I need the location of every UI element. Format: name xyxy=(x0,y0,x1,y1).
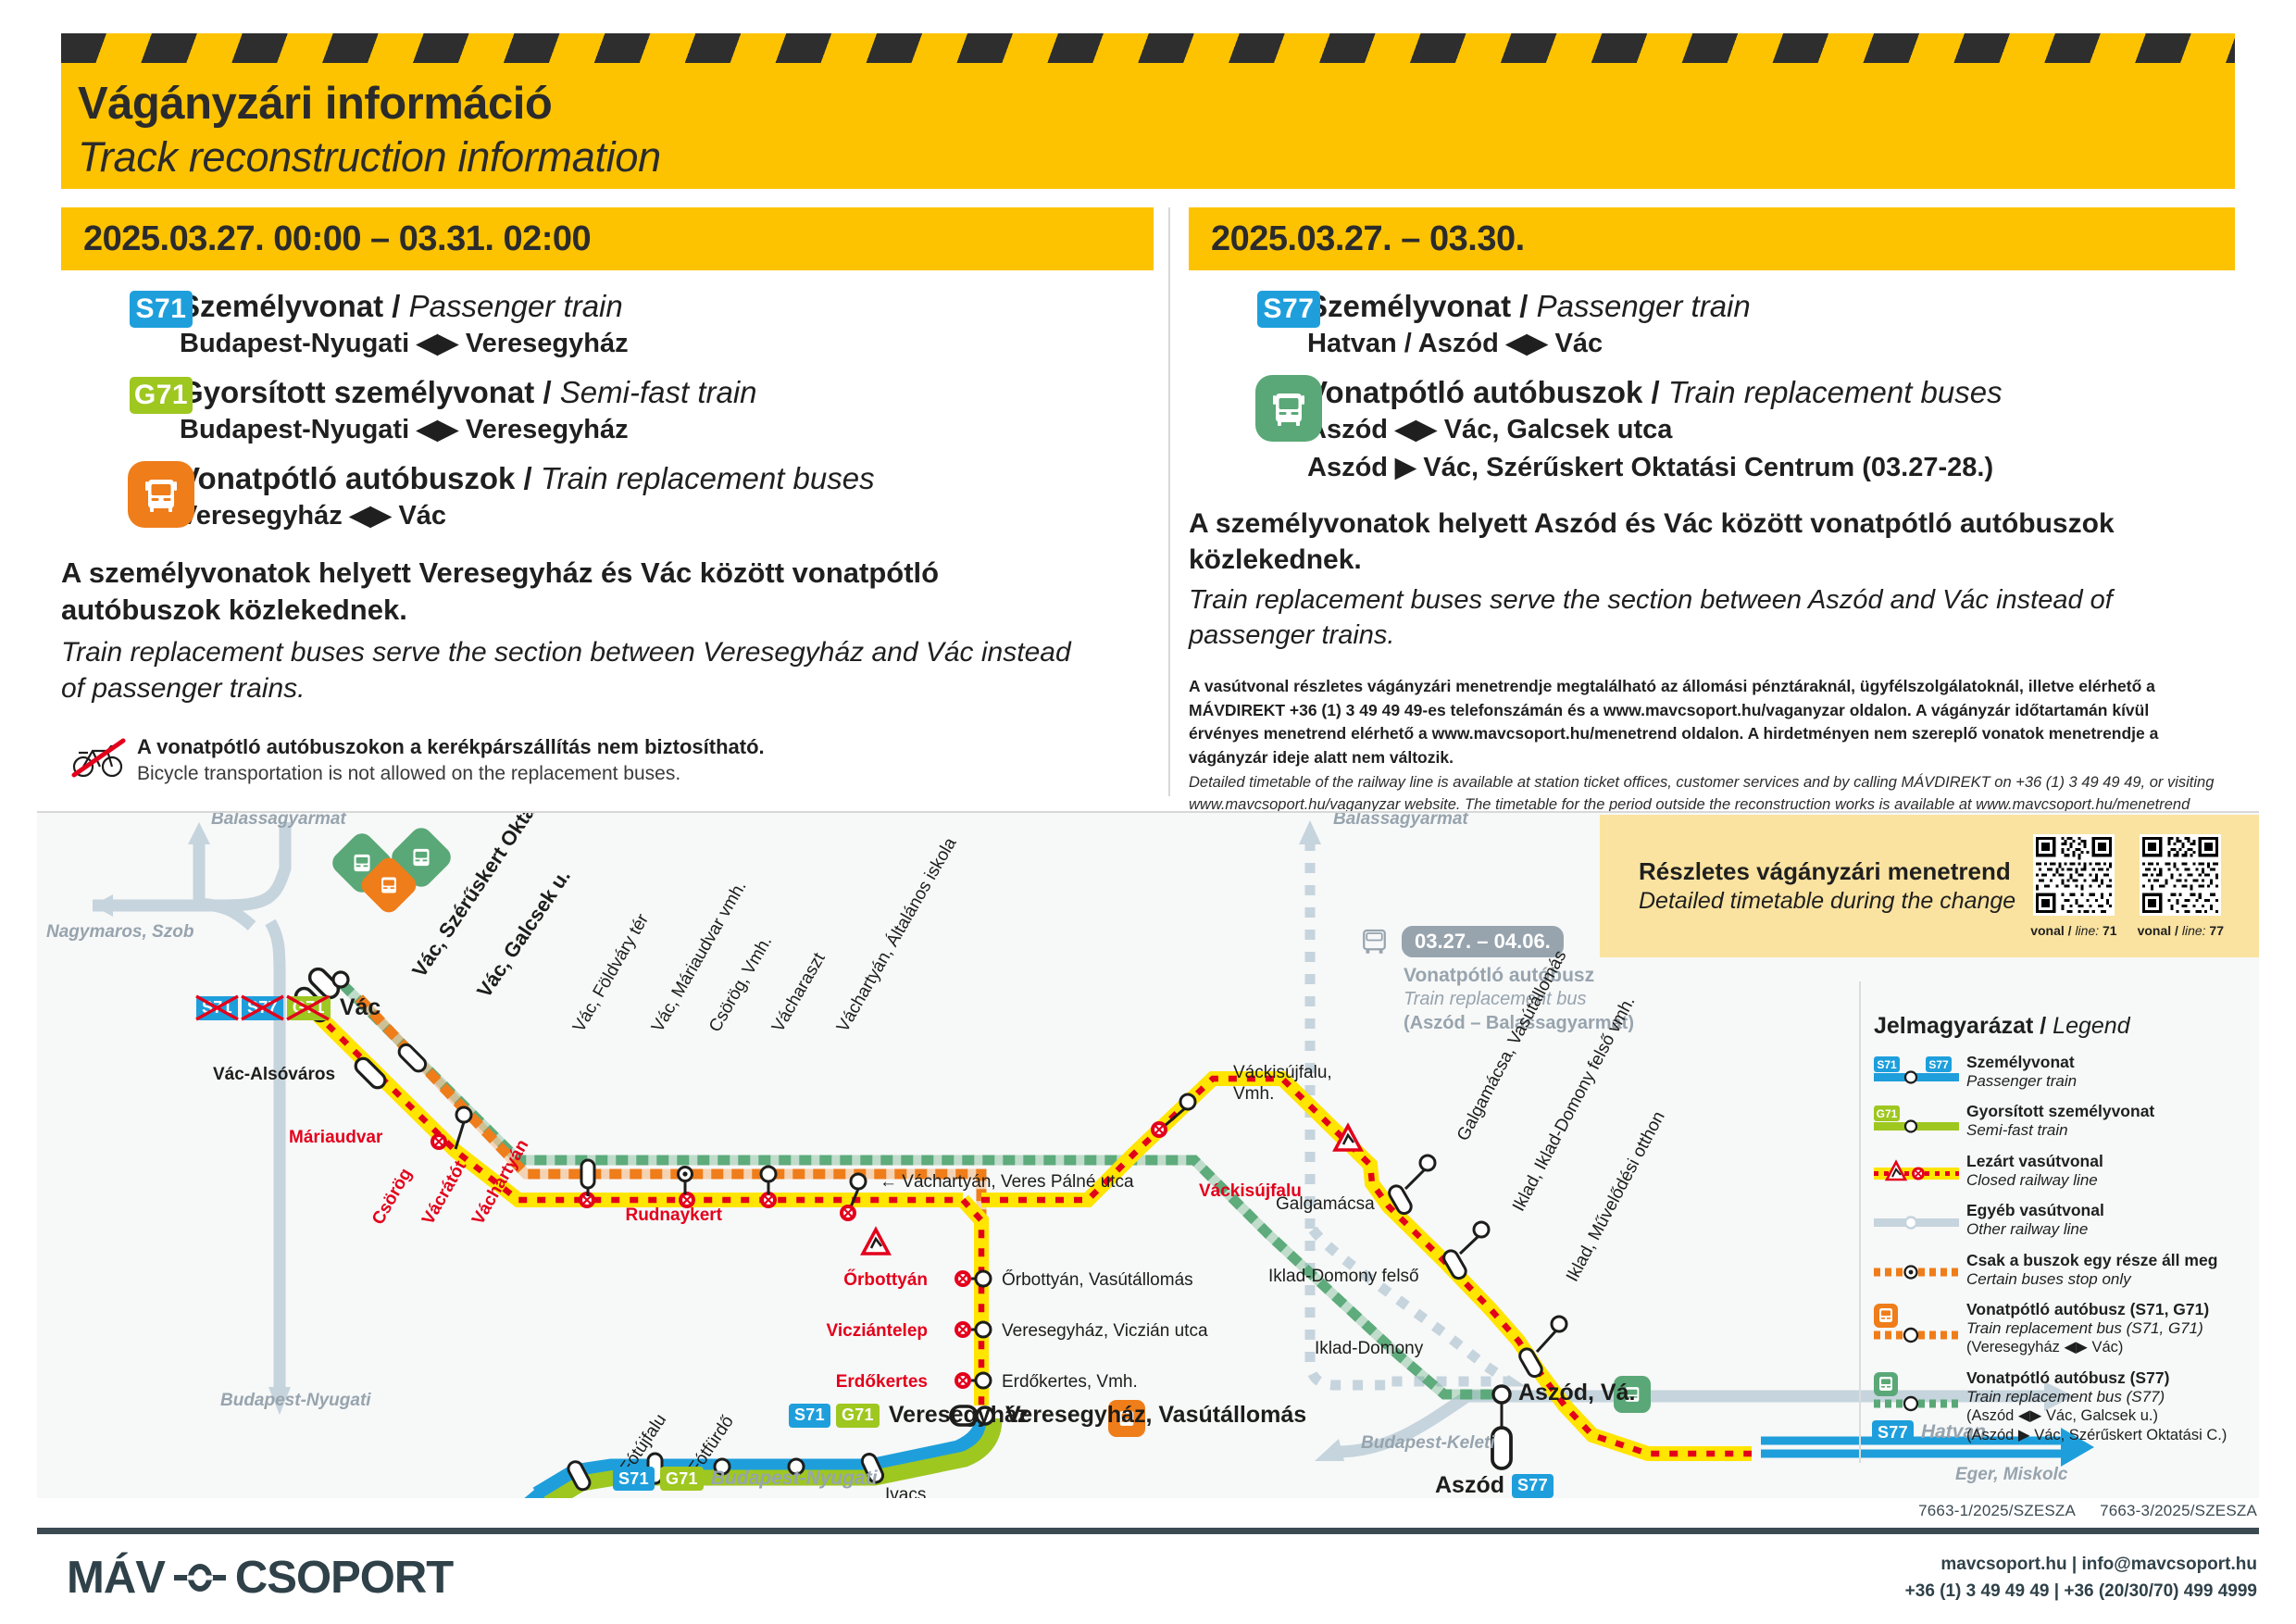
station-label-iklad-domony-felso: Iklad-Domony felső xyxy=(1268,1267,1419,1287)
document-code-2: 7663-3/2025/SZESZA xyxy=(2100,1502,2257,1519)
legend-divider xyxy=(1859,981,1861,1463)
document-code-1: 7663-1/2025/SZESZA xyxy=(1918,1502,2075,1519)
station-label-vac-alsovaros: Vác-Alsóváros xyxy=(213,1065,335,1085)
service-bus-right: Vonatpótló autóbuszok / Train replacemen… xyxy=(1189,375,2237,486)
service-s77: S77 Személyvonat / Passenger train Hatva… xyxy=(1189,289,2237,362)
station-label-erdokertes: Erdőkertes xyxy=(836,1372,928,1393)
note-en-left: Train replacement buses serve the sectio… xyxy=(61,634,1098,706)
station-label-rudnaykert: Rudnaykert xyxy=(625,1206,722,1226)
station-label-mariaudvar: Máriaudvar xyxy=(289,1128,382,1148)
legend-item-semi-fast-train: G71 Gyorsított személyvonat Semi-fast tr… xyxy=(1874,1102,2235,1140)
legend-item-bus-green: Vonatpótló autóbusz (S77) Train replacem… xyxy=(1874,1368,2235,1445)
brand-text-csoport: CSOPORT xyxy=(235,1552,453,1604)
cross-out-icon xyxy=(284,993,332,1023)
direction-label-balassagyarmat-left: Balassagyarmat xyxy=(211,813,346,830)
date-range-right: 2025.03.27. – 03.30. xyxy=(1189,219,1525,259)
map-bus-note-label-hu: Vonatpótló autóbusz xyxy=(1404,965,1594,987)
note-hu-right: A személyvonatok helyett Aszód és Vác kö… xyxy=(1189,506,2226,578)
service-title-en: Passenger train xyxy=(1537,289,1751,323)
brand-text-mav: MÁV xyxy=(67,1552,165,1604)
qr-title-hu: Részletes vágányzári menetrend xyxy=(1639,857,2030,886)
bus-icon-orange xyxy=(128,461,194,528)
poster-page: Vágányzári információ Track reconstructi… xyxy=(0,0,2296,1624)
cross-out-icon xyxy=(239,993,287,1023)
legend-item-other-line: Egyéb vasútvonal Other railway line xyxy=(1874,1201,2235,1239)
note-hu-left: A személyvonatok helyett Veresegyház és … xyxy=(61,555,1098,628)
vac-badge-s71-crossed: S71 xyxy=(196,996,238,1020)
station-label-aszod: Aszód xyxy=(1435,1472,1504,1498)
footer-contact: mavcsoport.hu | info@mavcsoport.hu +36 (… xyxy=(1905,1552,2257,1605)
qr-timetable-box: Részletes vágányzári menetrend Detailed … xyxy=(1600,815,2259,957)
svg-text:G71: G71 xyxy=(1877,1107,1898,1120)
bike-notice: A vonatpótló autóbuszokon a kerékpárszál… xyxy=(61,734,1163,787)
busstop-label-vackisujfalu-vmh: Váckisújfalu,Vmh. xyxy=(1233,1063,1332,1106)
date-band-left: 2025.03.27. 00:00 – 03.31. 02:00 xyxy=(61,207,1154,270)
service-title-hu: Vonatpótló autóbuszok xyxy=(180,461,515,495)
service-title-bus-right: Vonatpótló autóbuszok / Train replacemen… xyxy=(1307,375,2237,410)
badge-s71: S71 xyxy=(130,291,193,328)
badge-g71: G71 xyxy=(130,377,193,414)
hazard-stripe xyxy=(61,33,2235,63)
right-column: S77 Személyvonat / Passenger train Hatva… xyxy=(1189,289,2237,839)
busstop-label-aszod-va: Aszód, Vá. xyxy=(1518,1380,1635,1406)
legend-text-partial-bus-stop: Csak a buszok egy része áll meg Certain … xyxy=(1959,1251,2217,1289)
column-divider xyxy=(1168,207,1170,796)
service-route-s77: Hatvan / Aszód ◀▶ Vác xyxy=(1307,326,2237,362)
fine-print-hu: A vasútvonal részletes vágányzári menetr… xyxy=(1189,675,2216,769)
aszod-station-group: Aszód S77 xyxy=(1435,1472,1554,1498)
service-bus-left: Vonatpótló autóbuszok / Train replacemen… xyxy=(61,461,1163,534)
service-title-en: Passenger train xyxy=(409,289,623,323)
station-label-galgamacsa: Galgamácsa xyxy=(1276,1194,1375,1215)
footer-phone: +36 (1) 3 49 49 49 | +36 (20/30/70) 499 … xyxy=(1905,1579,2257,1605)
service-title-hu: Gyorsított személyvonat xyxy=(180,375,534,409)
qr-code-line-77[interactable]: vonal / line: 77 xyxy=(2138,834,2224,938)
note-en-right: Train replacement buses serve the sectio… xyxy=(1189,583,2226,653)
legend-symbol-partial-bus-stop xyxy=(1874,1251,1959,1282)
legend-symbol-semi-fast-train: G71 xyxy=(1874,1102,1959,1133)
service-title-en: Train replacement buses xyxy=(541,461,875,495)
legend-symbol-closed-line xyxy=(1874,1152,1959,1183)
page-title-en: Track reconstruction information xyxy=(78,133,661,181)
footer-rule xyxy=(37,1528,2259,1534)
legend-text-bus-orange: Vonatpótló autóbusz (S71, G71) Train rep… xyxy=(1959,1300,2209,1357)
qr-code-line-71[interactable]: vonal / line: 71 xyxy=(2030,834,2116,938)
left-column: S71 Személyvonat / Passenger train Budap… xyxy=(61,289,1163,786)
legend-item-closed-line: Lezárt vasútvonal Closed railway line xyxy=(1874,1152,2235,1190)
map-bus-note-header: 03.27. – 04.06. xyxy=(1359,926,1564,957)
legend-text-closed-line: Lezárt vasútvonal Closed railway line xyxy=(1959,1152,2103,1190)
qr-code-icon xyxy=(2033,834,2115,916)
direction-label-nagymaros-szob: Nagymaros, Szob xyxy=(46,922,193,943)
service-g71: G71 Gyorsított személyvonat / Semi-fast … xyxy=(61,375,1163,448)
document-codes: 7663-1/2025/SZESZA 7663-3/2025/SZESZA xyxy=(1898,1502,2257,1520)
legend-text-other-line: Egyéb vasútvonal Other railway line xyxy=(1959,1201,2104,1239)
veresegyhaz-badge-s71: S71 xyxy=(789,1404,830,1428)
date-range-left: 2025.03.27. 00:00 – 03.31. 02:00 xyxy=(61,219,591,259)
vac-station-group: S71 S77 G71 Vác xyxy=(196,994,375,1021)
legend-item-bus-orange: Vonatpótló autóbusz (S71, G71) Train rep… xyxy=(1874,1300,2235,1357)
qr-title-en: Detailed timetable during the change xyxy=(1639,888,2030,915)
service-title-hu: Vonatpótló autóbuszok xyxy=(1307,375,1642,409)
no-bicycle-icon xyxy=(70,736,128,781)
map-bus-note-period: 03.27. – 04.06. xyxy=(1402,926,1564,957)
legend-symbol-bus-orange xyxy=(1874,1300,1959,1348)
svg-text:S71: S71 xyxy=(1877,1058,1897,1071)
service-title-g71: Gyorsított személyvonat / Semi-fast trai… xyxy=(180,375,1163,410)
terminus-budapest-nyugati: S71 G71 Budapest-Nyugati xyxy=(613,1467,876,1491)
service-route-bus-right-2: Aszód ▶ Vác, Szérűskert Oktatási Centrum… xyxy=(1307,450,2237,486)
svg-text:S77: S77 xyxy=(1928,1058,1949,1071)
legend-text-passenger-train: Személyvonat Passenger train xyxy=(1959,1053,2077,1091)
bus-icon-green xyxy=(1255,375,1322,442)
busstop-label-orbottyan-vasutallomas: Őrbottyán, Vasútállomás xyxy=(1002,1270,1193,1291)
direction-label-budapest-keleti: Budapest-Keleti xyxy=(1361,1433,1495,1454)
station-label-iklad-domony: Iklad-Domony xyxy=(1315,1339,1423,1359)
legend-text-bus-green: Vonatpótló autóbusz (S77) Train replacem… xyxy=(1959,1368,2227,1445)
legend-symbol-passenger-train: S71 S77 xyxy=(1874,1053,1959,1084)
veresegyhaz-station-group: S71 G71 Veresegyház xyxy=(789,1402,1025,1429)
station-label-vac: Vác xyxy=(340,994,381,1021)
service-s71: S71 Személyvonat / Passenger train Budap… xyxy=(61,289,1163,362)
service-route-bus-right-1: Aszód ◀▶ Vác, Galcsek utca xyxy=(1307,412,2237,448)
legend-symbol-bus-green xyxy=(1874,1368,1959,1417)
mav-csoport-logo: MÁV CSOPORT xyxy=(67,1552,453,1604)
busstop-label-veresegyhaz-vasutallomas: Veresegyház, Vasútállomás xyxy=(1005,1402,1306,1429)
service-title-s71: Személyvonat / Passenger train xyxy=(180,289,1163,324)
service-title-s77: Személyvonat / Passenger train xyxy=(1307,289,2237,324)
station-label-csomad: Csomád xyxy=(770,1496,836,1498)
service-title-hu: Személyvonat xyxy=(180,289,383,323)
direction-label-balassagyarmat-center: Balassagyarmat xyxy=(1333,813,1468,830)
service-title-bus-left: Vonatpótló autóbuszok / Train replacemen… xyxy=(180,461,1163,496)
service-route-g71: Budapest-Nyugati ◀▶ Veresegyház xyxy=(180,412,1163,448)
legend-symbol-other-line xyxy=(1874,1201,1959,1232)
map-bus-note-label-en: Train replacement bus xyxy=(1404,989,1587,1010)
busstop-label-erdokertes-vmh: Erdőkertes, Vmh. xyxy=(1002,1372,1138,1393)
legend-title: Jelmagyarázat / Legend xyxy=(1874,1013,2235,1040)
service-route-bus-left: Veresegyház ◀▶ Vác xyxy=(180,498,1163,534)
service-route-s71: Budapest-Nyugati ◀▶ Veresegyház xyxy=(180,326,1163,362)
aszod-badge-s77: S77 xyxy=(1512,1474,1554,1498)
page-title-hu: Vágányzári információ xyxy=(78,78,552,130)
qr-code-icon xyxy=(2140,834,2221,916)
qr-caption-71: vonal / line: 71 xyxy=(2030,923,2116,938)
vac-badge-g71-crossed: G71 xyxy=(287,996,331,1020)
date-band-right: 2025.03.27. – 03.30. xyxy=(1189,207,2235,270)
vac-badge-s77-crossed: S77 xyxy=(242,996,283,1020)
terminus-badge-g71: G71 xyxy=(660,1467,704,1491)
busstop-label-vachartyan-veres-palne: ← Váchartyán, Veres Pálné utca xyxy=(880,1172,1134,1193)
terminus-badge-s71: S71 xyxy=(613,1467,655,1491)
service-title-en: Semi-fast train xyxy=(560,375,757,409)
station-label-vicziantelep: Vicziántelep xyxy=(827,1321,928,1342)
legend-item-partial-bus-stop: Csak a buszok egy része áll meg Certain … xyxy=(1874,1251,2235,1289)
qr-caption-77: vonal / line: 77 xyxy=(2138,923,2224,938)
service-title-hu: Személyvonat xyxy=(1307,289,1511,323)
veresegyhaz-badge-g71: G71 xyxy=(836,1404,880,1428)
terminus-label-budapest-nyugati: Budapest-Nyugati xyxy=(711,1468,878,1490)
station-label-orbottyan: Őrbottyán xyxy=(843,1270,928,1291)
direction-label-budapest-nyugati-left: Budapest-Nyugati xyxy=(220,1391,371,1411)
cross-out-icon xyxy=(193,993,242,1023)
service-title-en: Train replacement buses xyxy=(1668,375,2003,409)
badge-s77: S77 xyxy=(1257,291,1320,328)
station-label-ivacs: Ivacs xyxy=(885,1485,926,1498)
footer-web[interactable]: mavcsoport.hu | info@mavcsoport.hu xyxy=(1905,1552,2257,1579)
bike-notice-en: Bicycle transportation is not allowed on… xyxy=(137,761,1163,786)
legend-text-semi-fast-train: Gyorsított személyvonat Semi-fast train xyxy=(1959,1102,2154,1140)
bike-notice-hu: A vonatpótló autóbuszokon a kerékpárszál… xyxy=(137,734,1163,760)
bus-icon-grey xyxy=(1359,928,1392,956)
busstop-label-veresegyhaz-viczian-utca: Veresegyház, Viczián utca xyxy=(1002,1321,1208,1342)
legend: Jelmagyarázat / Legend S71 S77 Személyvo… xyxy=(1874,1013,2235,1476)
qr-codes-group: vonal / line: 71 xyxy=(2030,834,2259,938)
mav-wheel-icon xyxy=(174,1559,226,1596)
qr-box-texts: Részletes vágányzári menetrend Detailed … xyxy=(1600,857,2030,915)
legend-item-passenger-train: S71 S77 Személyvonat Passenger train xyxy=(1874,1053,2235,1091)
